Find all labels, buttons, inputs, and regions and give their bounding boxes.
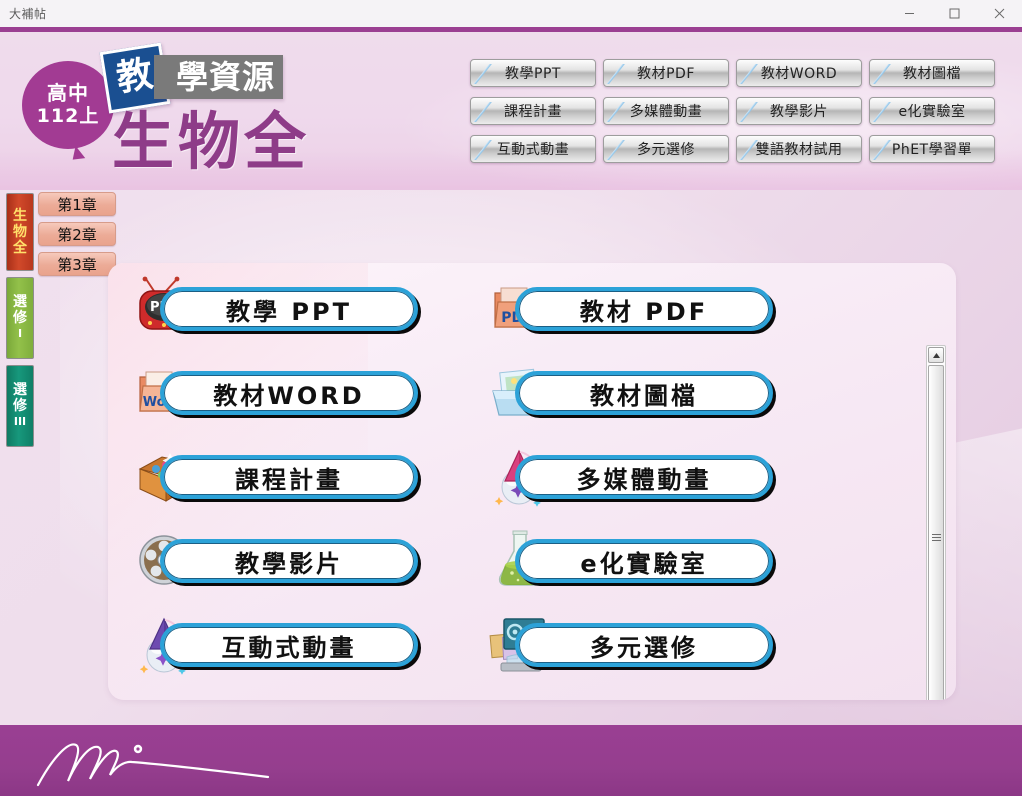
scrollbar-thumb[interactable]: [928, 365, 944, 700]
nav-button-label: 教學PPT: [505, 63, 561, 83]
sidebar-tab-1[interactable]: 選修I: [6, 277, 34, 359]
nav-button-7[interactable]: e化實驗室: [869, 97, 995, 125]
nav-button-2[interactable]: 教材WORD: [736, 59, 862, 87]
resource-button-3[interactable]: 教材圖檔: [515, 371, 773, 415]
chapter-list: 第1章第2章第3章: [38, 192, 118, 282]
sidebar-tab-0[interactable]: 生物全: [6, 193, 34, 271]
nav-slash-icon: [872, 64, 892, 84]
resource-item[interactable]: 教學影片: [132, 527, 462, 595]
resource-button-5[interactable]: 多媒體動畫: [515, 455, 773, 499]
nav-button-label: 課程計畫: [504, 101, 562, 121]
window-controls: [887, 0, 1022, 27]
grade-badge: 高中 112上: [22, 61, 114, 149]
nav-slash-icon: [606, 64, 626, 84]
resource-item[interactable]: Word教材WORD: [132, 359, 462, 427]
nav-slash-icon: [473, 140, 493, 160]
resource-item[interactable]: e化實驗室: [487, 527, 817, 595]
nav-slash-icon: [872, 102, 892, 122]
nav-button-0[interactable]: 教學PPT: [470, 59, 596, 87]
brand-logo: 高中 112上 教 學資源 生物全: [22, 39, 442, 189]
logo-xue-bar: 學資源: [154, 55, 283, 99]
nav-button-label: PhET學習單: [892, 139, 972, 159]
nav-button-11[interactable]: PhET學習單: [869, 135, 995, 163]
nav-button-label: 多媒體動畫: [630, 101, 703, 121]
nav-slash-icon: [739, 102, 759, 122]
minimize-icon[interactable]: [887, 0, 932, 27]
close-icon[interactable]: [977, 0, 1022, 27]
nav-button-6[interactable]: 教學影片: [736, 97, 862, 125]
logo-jiao-char: 教: [114, 56, 155, 97]
nav-button-label: 多元選修: [637, 139, 695, 159]
nav-slash-icon: [739, 64, 759, 84]
application-window: 大補帖 高中 112上 教 學資源: [0, 0, 1022, 796]
nav-button-8[interactable]: 互動式動畫: [470, 135, 596, 163]
resource-item[interactable]: 互動式動畫: [132, 611, 462, 679]
resource-panel: PPT教學 PPTPDF教材 PDFWord教材WORD教材圖檔課程計畫多媒體動…: [108, 263, 956, 700]
nav-button-label: 教學影片: [770, 101, 828, 121]
resource-button-1[interactable]: 教材 PDF: [515, 287, 773, 331]
resource-item[interactable]: 教材圖檔: [487, 359, 817, 427]
nav-button-label: 教材WORD: [761, 63, 837, 83]
content-stage: 生物全選修I選修III 第1章第2章第3章 PPT教學 PPTPDF教材 PDF…: [0, 190, 1022, 725]
scroll-up-icon[interactable]: [928, 347, 944, 363]
sidebar-tab-2[interactable]: 選修III: [6, 365, 34, 447]
title-bar: 大補帖: [0, 0, 1022, 27]
resource-button-0[interactable]: 教學 PPT: [160, 287, 418, 331]
nav-button-label: 教材圖檔: [903, 63, 961, 83]
resource-grid: PPT教學 PPTPDF教材 PDFWord教材WORD教材圖檔課程計畫多媒體動…: [132, 275, 852, 679]
nav-slash-icon: [606, 140, 626, 160]
nav-button-label: 互動式動畫: [497, 139, 570, 159]
sidebar-tab-char: 物: [13, 224, 27, 240]
resource-item[interactable]: 多媒體動畫: [487, 443, 817, 511]
nav-button-9[interactable]: 多元選修: [603, 135, 729, 163]
window-title: 大補帖: [9, 5, 47, 22]
sidebar-tabs: 生物全選修I選修III: [6, 193, 34, 447]
nav-button-4[interactable]: 課程計畫: [470, 97, 596, 125]
page-title: 生物全: [112, 111, 310, 173]
page-header: 高中 112上 教 學資源 生物全 教學PPT教材PDF教材WORD教材圖檔課程…: [0, 27, 1022, 190]
sidebar-tab-char: 生: [13, 208, 27, 224]
page-footer: 建議使用office 2007 以上版本 服務中心 回首頁 離 開: [0, 725, 1022, 796]
nav-slash-icon: [872, 140, 892, 160]
sidebar-tab-char: 修: [13, 310, 27, 326]
nav-button-label: 教材PDF: [637, 63, 695, 83]
sidebar-tab-char: 修: [13, 398, 27, 414]
sidebar-tab-roman: III: [14, 414, 26, 430]
chapter-button-2[interactable]: 第3章: [38, 252, 116, 276]
grade-level: 高中: [47, 82, 89, 105]
nani-logo: [20, 733, 320, 791]
scrollbar-grip: [932, 534, 941, 541]
chapter-button-1[interactable]: 第2章: [38, 222, 116, 246]
sidebar-tab-char: 選: [13, 294, 27, 310]
logo-xue-text: 學資源: [176, 61, 275, 93]
semester: 112上: [37, 105, 100, 128]
nav-button-label: e化實驗室: [898, 101, 965, 121]
sidebar-tab-char: 全: [13, 240, 27, 256]
top-nav: 教學PPT教材PDF教材WORD教材圖檔課程計畫多媒體動畫教學影片e化實驗室互動…: [470, 59, 1004, 163]
vertical-scrollbar[interactable]: [926, 345, 946, 700]
nav-button-1[interactable]: 教材PDF: [603, 59, 729, 87]
nav-slash-icon: [606, 102, 626, 122]
sidebar-tab-roman: I: [18, 326, 22, 342]
resource-item[interactable]: PDF教材 PDF: [487, 275, 817, 343]
nav-button-label: 雙語教材試用: [756, 139, 843, 159]
nav-button-3[interactable]: 教材圖檔: [869, 59, 995, 87]
resource-button-9[interactable]: 多元選修: [515, 623, 773, 667]
nav-button-10[interactable]: 雙語教材試用: [736, 135, 862, 163]
sidebar-tab-char: 選: [13, 382, 27, 398]
resource-button-7[interactable]: e化實驗室: [515, 539, 773, 583]
chapter-button-0[interactable]: 第1章: [38, 192, 116, 216]
resource-item[interactable]: 多元選修: [487, 611, 817, 679]
resource-item[interactable]: 課程計畫: [132, 443, 462, 511]
resource-button-2[interactable]: 教材WORD: [160, 371, 418, 415]
nav-slash-icon: [473, 64, 493, 84]
nav-button-5[interactable]: 多媒體動畫: [603, 97, 729, 125]
resource-button-6[interactable]: 教學影片: [160, 539, 418, 583]
resource-button-4[interactable]: 課程計畫: [160, 455, 418, 499]
resource-button-8[interactable]: 互動式動畫: [160, 623, 418, 667]
resource-item[interactable]: PPT教學 PPT: [132, 275, 462, 343]
maximize-icon[interactable]: [932, 0, 977, 27]
nav-slash-icon: [473, 102, 493, 122]
